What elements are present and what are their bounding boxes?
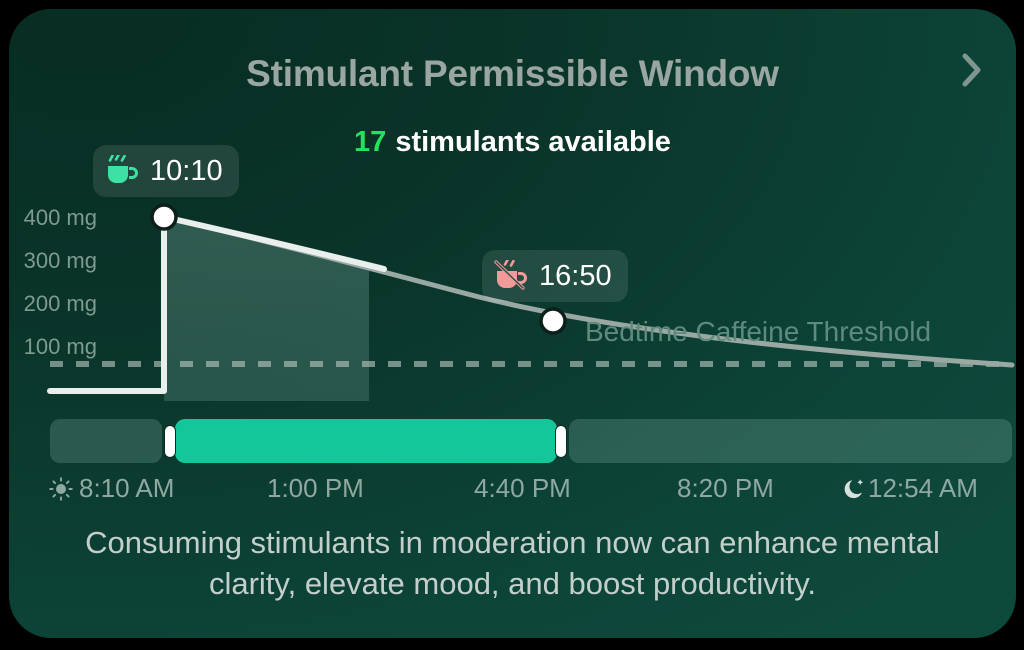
time-tick-4: 12:54 AM: [842, 473, 978, 504]
slider-handle-end[interactable]: [555, 425, 567, 458]
time-tick-3: 8:20 PM: [677, 473, 774, 504]
cutoff-time-value: 16:50: [539, 260, 612, 293]
intake-time-badge[interactable]: 10:10: [93, 145, 239, 197]
time-tick-0: 8:10 AM: [49, 473, 174, 504]
cutoff-time-badge[interactable]: 16:50: [482, 250, 628, 302]
intake-marker-dot: [152, 205, 176, 229]
slider-segment-before[interactable]: [50, 419, 162, 463]
time-axis: 8:10 AM 1:00 PM 4:40 PM 8:20 PM 12:54 AM: [9, 473, 1016, 507]
time-tick-label-3: 8:20 PM: [677, 473, 774, 504]
time-tick-label-4: 12:54 AM: [868, 473, 978, 504]
time-tick-2: 4:40 PM: [474, 473, 571, 504]
y-axis-label-400: 400 mg: [9, 205, 97, 231]
time-tick-label-0: 8:10 AM: [79, 473, 174, 504]
slider-handle-start[interactable]: [164, 425, 176, 458]
sun-icon: [49, 477, 73, 501]
permissible-window-area: [164, 217, 369, 401]
stimulant-window-card: Stimulant Permissible Window 17stimulant…: [9, 9, 1016, 638]
stimulant-count: 17: [354, 126, 386, 158]
y-axis-label-300: 300 mg: [9, 248, 97, 274]
time-tick-label-2: 4:40 PM: [474, 473, 571, 504]
bedtime-threshold-label: Bedtime Caffeine Threshold: [585, 316, 931, 348]
moon-icon: [842, 477, 866, 501]
time-window-slider[interactable]: [50, 419, 1012, 463]
y-axis-label-100: 100 mg: [9, 334, 97, 360]
time-tick-label-1: 1:00 PM: [267, 473, 364, 504]
time-tick-1: 1:00 PM: [267, 473, 364, 504]
coffee-cup-slash-icon: [494, 260, 530, 292]
slider-segment-active[interactable]: [175, 419, 557, 463]
coffee-cup-icon: [105, 155, 141, 187]
stimulant-count-label: stimulants available: [395, 126, 671, 158]
page-title: Stimulant Permissible Window: [9, 53, 1016, 95]
slider-segment-after[interactable]: [569, 419, 1012, 463]
chevron-right-icon[interactable]: [952, 47, 992, 93]
cutoff-marker-dot: [541, 309, 565, 333]
y-axis-label-200: 200 mg: [9, 291, 97, 317]
intake-time-value: 10:10: [150, 155, 223, 188]
advice-text: Consuming stimulants in moderation now c…: [59, 522, 966, 604]
